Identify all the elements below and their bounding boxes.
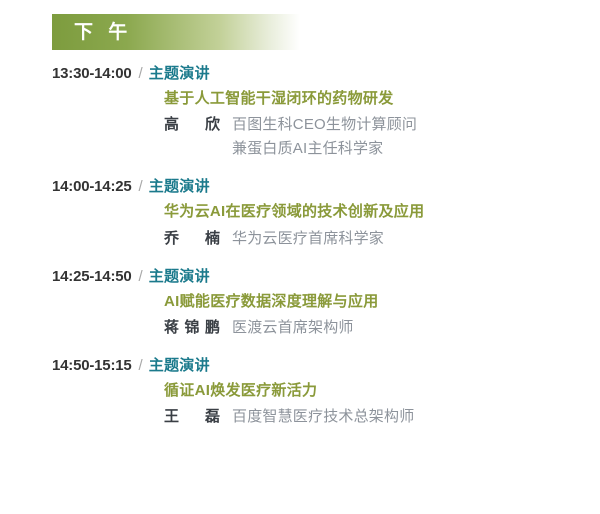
session-item: 14:25-14:50/主题演讲AI赋能医疗数据深度理解与应用蒋锦鹏医渡云首席架… [0, 265, 600, 340]
speaker-affiliation: 医渡云首席架构师 [232, 316, 354, 340]
speaker-name: 王磊 [164, 405, 220, 429]
session-header: 14:50-15:15/主题演讲 [52, 354, 600, 375]
session-header: 14:00-14:25/主题演讲 [52, 175, 600, 196]
session-time: 14:50-15:15 [52, 357, 132, 374]
session-time: 13:30-14:00 [52, 65, 132, 82]
speaker-affiliation: 百图生科CEO生物计算顾问 [232, 113, 417, 137]
session-time: 14:25-14:50 [52, 268, 132, 285]
speaker-affiliation-group: 医渡云首席架构师 [232, 316, 354, 340]
session-type-label: 主题演讲 [149, 265, 210, 286]
speaker-affiliation: 兼蛋白质AI主任科学家 [232, 137, 417, 161]
speaker-name: 乔楠 [164, 227, 220, 251]
session-time: 14:00-14:25 [52, 178, 132, 195]
speaker-affiliation-group: 百图生科CEO生物计算顾问兼蛋白质AI主任科学家 [232, 113, 417, 161]
session-separator: / [139, 65, 143, 82]
session-type-label: 主题演讲 [149, 62, 210, 83]
banner-label: 下 午 [52, 23, 132, 42]
speaker-row: 高欣百图生科CEO生物计算顾问兼蛋白质AI主任科学家 [164, 113, 600, 161]
session-body: 基于人工智能干湿闭环的药物研发高欣百图生科CEO生物计算顾问兼蛋白质AI主任科学… [52, 87, 600, 161]
session-title: 华为云AI在医疗领域的技术创新及应用 [164, 200, 600, 223]
session-header: 14:25-14:50/主题演讲 [52, 265, 600, 286]
session-item: 14:00-14:25/主题演讲华为云AI在医疗领域的技术创新及应用乔楠华为云医… [0, 175, 600, 250]
speaker-name: 高欣 [164, 113, 220, 137]
speaker-row: 王磊百度智慧医疗技术总架构师 [164, 405, 600, 429]
session-separator: / [139, 357, 143, 374]
session-title: 循证AI焕发医疗新活力 [164, 379, 600, 402]
speaker-affiliation-group: 百度智慧医疗技术总架构师 [232, 405, 414, 429]
session-body: 华为云AI在医疗领域的技术创新及应用乔楠华为云医疗首席科学家 [52, 200, 600, 250]
session-body: 循证AI焕发医疗新活力王磊百度智慧医疗技术总架构师 [52, 379, 600, 429]
session-title: AI赋能医疗数据深度理解与应用 [164, 290, 600, 313]
agenda-list: 13:30-14:00/主题演讲基于人工智能干湿闭环的药物研发高欣百图生科CEO… [0, 62, 600, 443]
afternoon-banner: 下 午 [52, 14, 300, 50]
speaker-affiliation-group: 华为云医疗首席科学家 [232, 227, 384, 251]
speaker-affiliation: 华为云医疗首席科学家 [232, 227, 384, 251]
speaker-row: 乔楠华为云医疗首席科学家 [164, 227, 600, 251]
session-title: 基于人工智能干湿闭环的药物研发 [164, 87, 600, 110]
speaker-row: 蒋锦鹏医渡云首席架构师 [164, 316, 600, 340]
session-separator: / [139, 178, 143, 195]
session-header: 13:30-14:00/主题演讲 [52, 62, 600, 83]
session-type-label: 主题演讲 [149, 354, 210, 375]
session-separator: / [139, 268, 143, 285]
speaker-name: 蒋锦鹏 [164, 316, 220, 340]
session-item: 13:30-14:00/主题演讲基于人工智能干湿闭环的药物研发高欣百图生科CEO… [0, 62, 600, 161]
session-item: 14:50-15:15/主题演讲循证AI焕发医疗新活力王磊百度智慧医疗技术总架构… [0, 354, 600, 429]
speaker-affiliation: 百度智慧医疗技术总架构师 [232, 405, 414, 429]
session-body: AI赋能医疗数据深度理解与应用蒋锦鹏医渡云首席架构师 [52, 290, 600, 340]
session-type-label: 主题演讲 [149, 175, 210, 196]
